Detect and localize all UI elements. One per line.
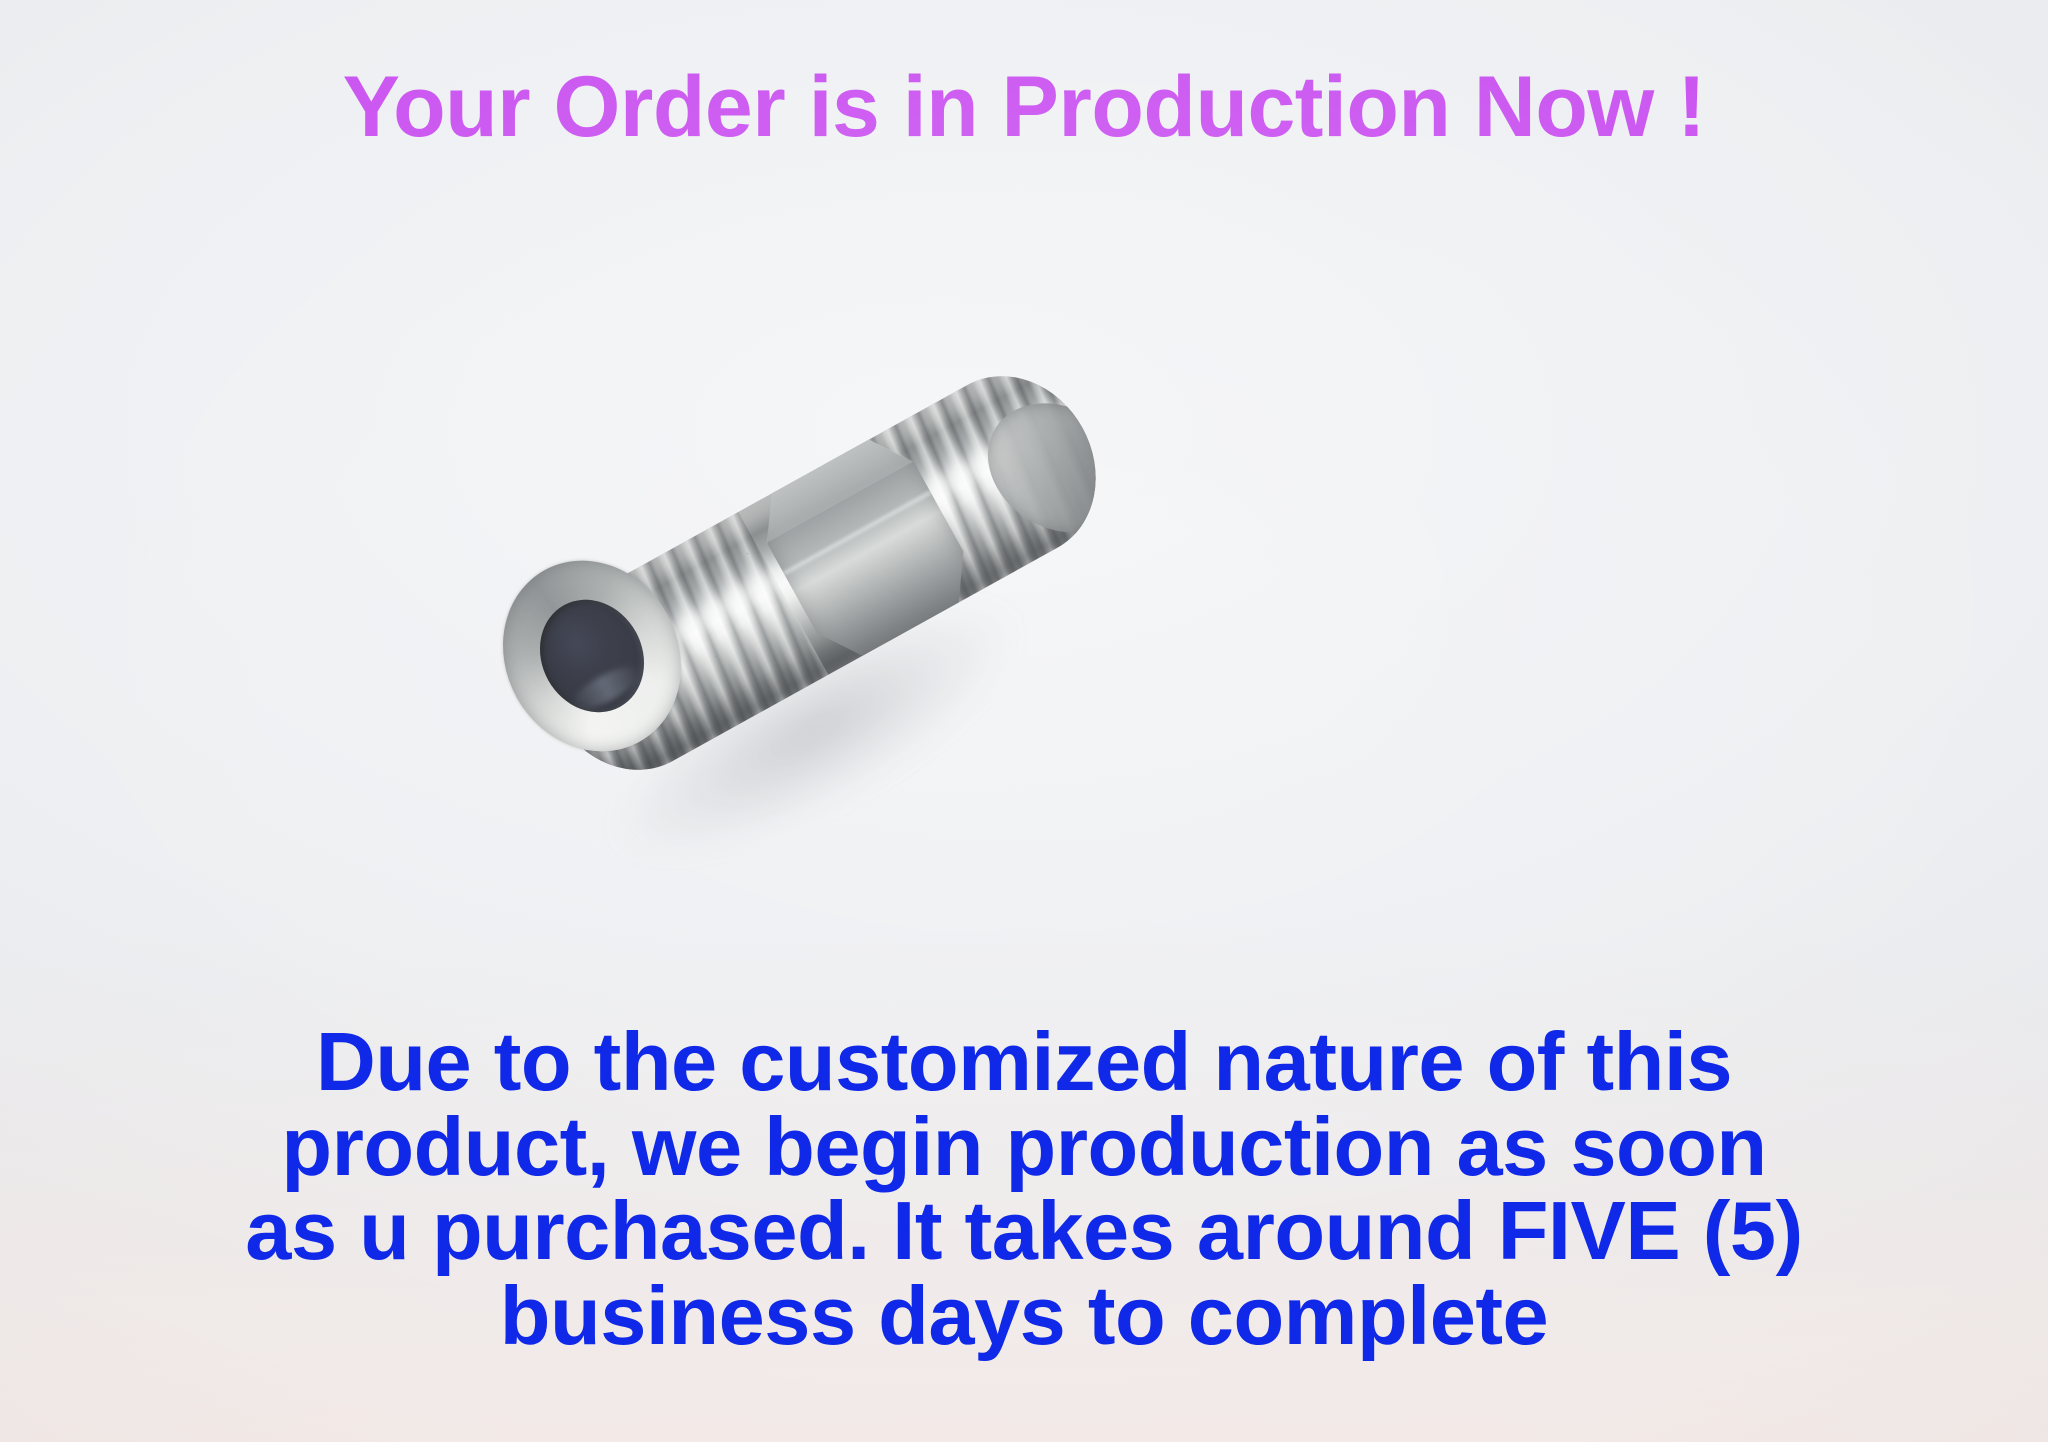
production-notice-message: Due to the customized nature of this pro…: [0, 1020, 2048, 1359]
message-line-2: product, we begin production as soon: [0, 1105, 2048, 1190]
notice-image-canvas: Your Order is in Production Now !: [0, 0, 2048, 1442]
pipe-nipple-body: [480, 330, 1160, 820]
product-photo-pipe-nipple: [480, 330, 1160, 820]
message-line-4: business days to complete: [0, 1274, 2048, 1359]
message-line-1: Due to the customized nature of this: [0, 1020, 2048, 1105]
message-line-3: as u purchased. It takes around FIVE (5): [0, 1189, 2048, 1274]
headline-text: Your Order is in Production Now !: [0, 62, 2048, 152]
